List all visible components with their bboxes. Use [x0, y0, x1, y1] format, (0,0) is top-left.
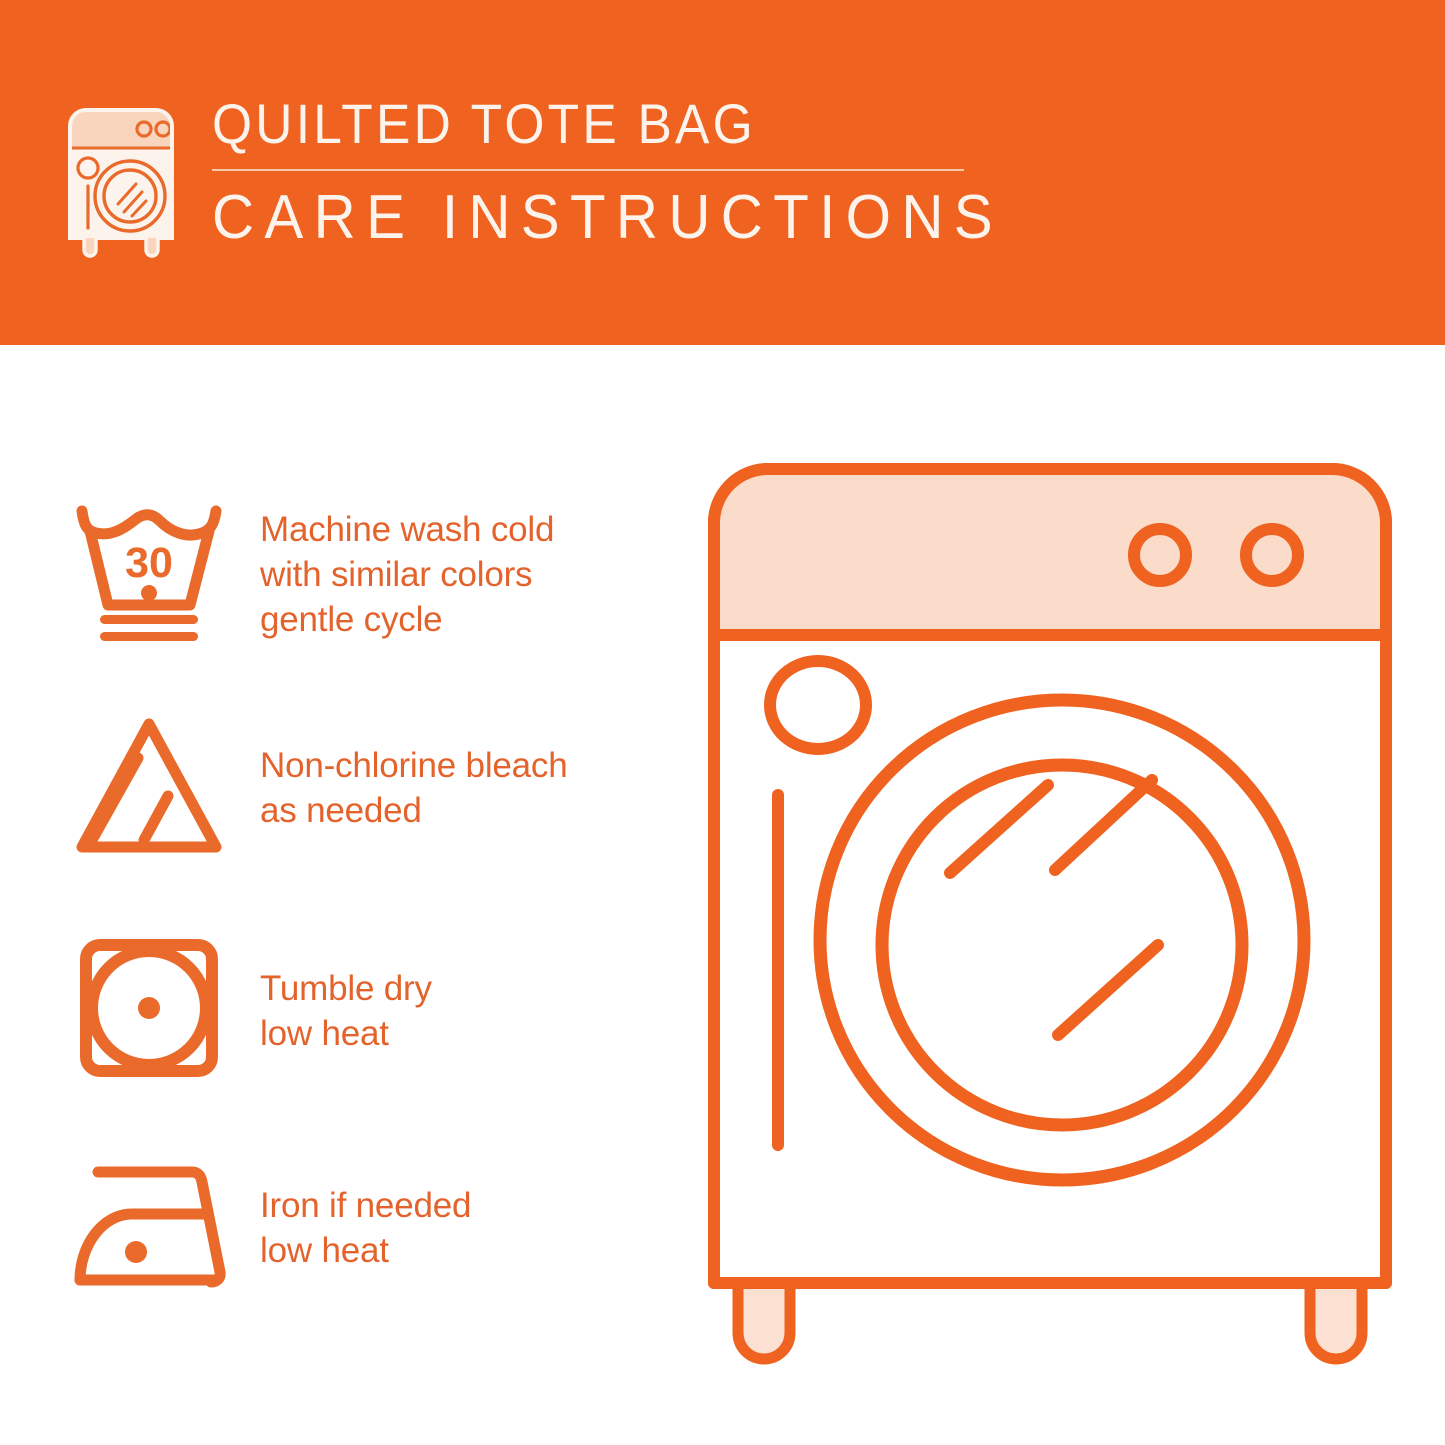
- non-chlorine-bleach-triangle-icon: [70, 710, 230, 865]
- list-item: Tumble dry low heat: [70, 933, 690, 1088]
- wash-basin-30-icon: 30: [70, 497, 230, 652]
- list-item-label: Iron if needed low heat: [260, 1183, 471, 1273]
- list-item: Non-chlorine bleach as needed: [70, 710, 690, 865]
- washing-machine-illustration: [700, 455, 1410, 1385]
- tumble-dry-low-icon: [70, 933, 230, 1088]
- control-panel: [714, 469, 1386, 635]
- list-item-label: Machine wash cold with similar colors ge…: [260, 507, 554, 642]
- header-title-block: QUILTED TOTE BAG CARE INSTRUCTIONS: [212, 92, 1053, 253]
- header-banner: QUILTED TOTE BAG CARE INSTRUCTIONS: [0, 0, 1445, 345]
- list-item-label: Tumble dry low heat: [260, 966, 432, 1056]
- iron-low-heat-icon: [70, 1150, 230, 1305]
- wash-temperature-label: 30: [125, 539, 173, 587]
- page-subtitle: CARE INSTRUCTIONS: [212, 183, 1003, 253]
- title-divider: [212, 169, 964, 171]
- list-item: Iron if needed low heat: [70, 1150, 690, 1305]
- header-content: QUILTED TOTE BAG CARE INSTRUCTIONS: [62, 92, 1053, 260]
- list-item-label: Non-chlorine bleach as needed: [260, 743, 568, 833]
- page-title: QUILTED TOTE BAG: [212, 92, 986, 156]
- washing-machine-icon: [62, 100, 180, 260]
- care-symbol-list: 30 Machine wash cold with similar colors…: [0, 345, 700, 1445]
- list-item: 30 Machine wash cold with similar colors…: [70, 497, 690, 652]
- washing-machine-graphic: [700, 455, 1410, 1385]
